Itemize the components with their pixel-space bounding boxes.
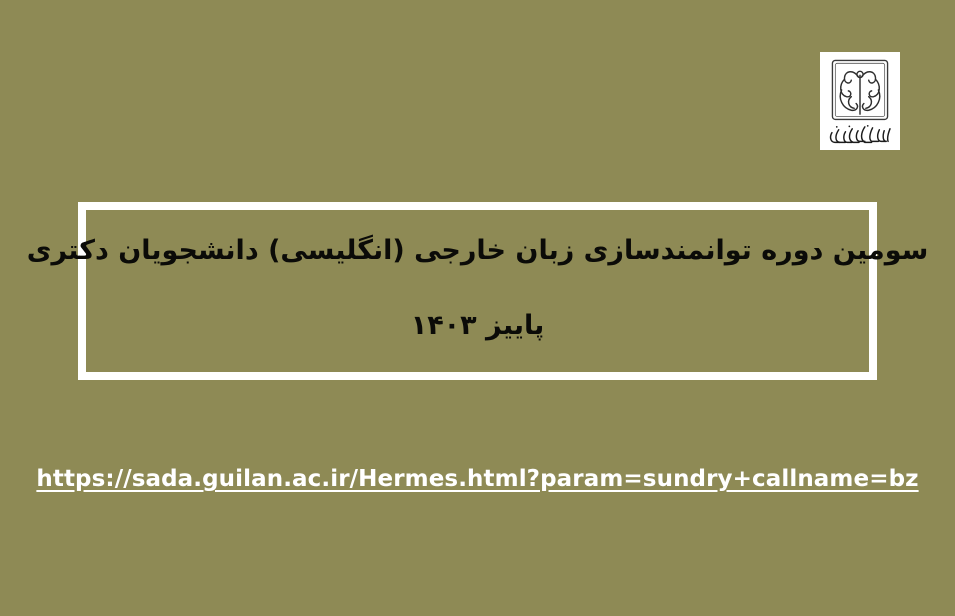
guilan-university-emblem-icon — [829, 58, 891, 122]
announcement-title-line-2: پاییز ۱۴۰۳ — [411, 308, 545, 343]
announcement-title-line-1: سومین دوره توانمندسازی زبان خارجی (انگلی… — [27, 233, 929, 268]
announcement-title-frame: سومین دوره توانمندسازی زبان خارجی (انگلی… — [78, 202, 877, 380]
university-of-guilan-logo — [820, 52, 900, 150]
registration-url-link[interactable]: https://sada.guilan.ac.ir/Hermes.html?pa… — [0, 466, 955, 492]
poster-canvas: سومین دوره توانمندسازی زبان خارجی (انگلی… — [0, 0, 955, 616]
logo-caption-persian-text — [825, 123, 895, 148]
